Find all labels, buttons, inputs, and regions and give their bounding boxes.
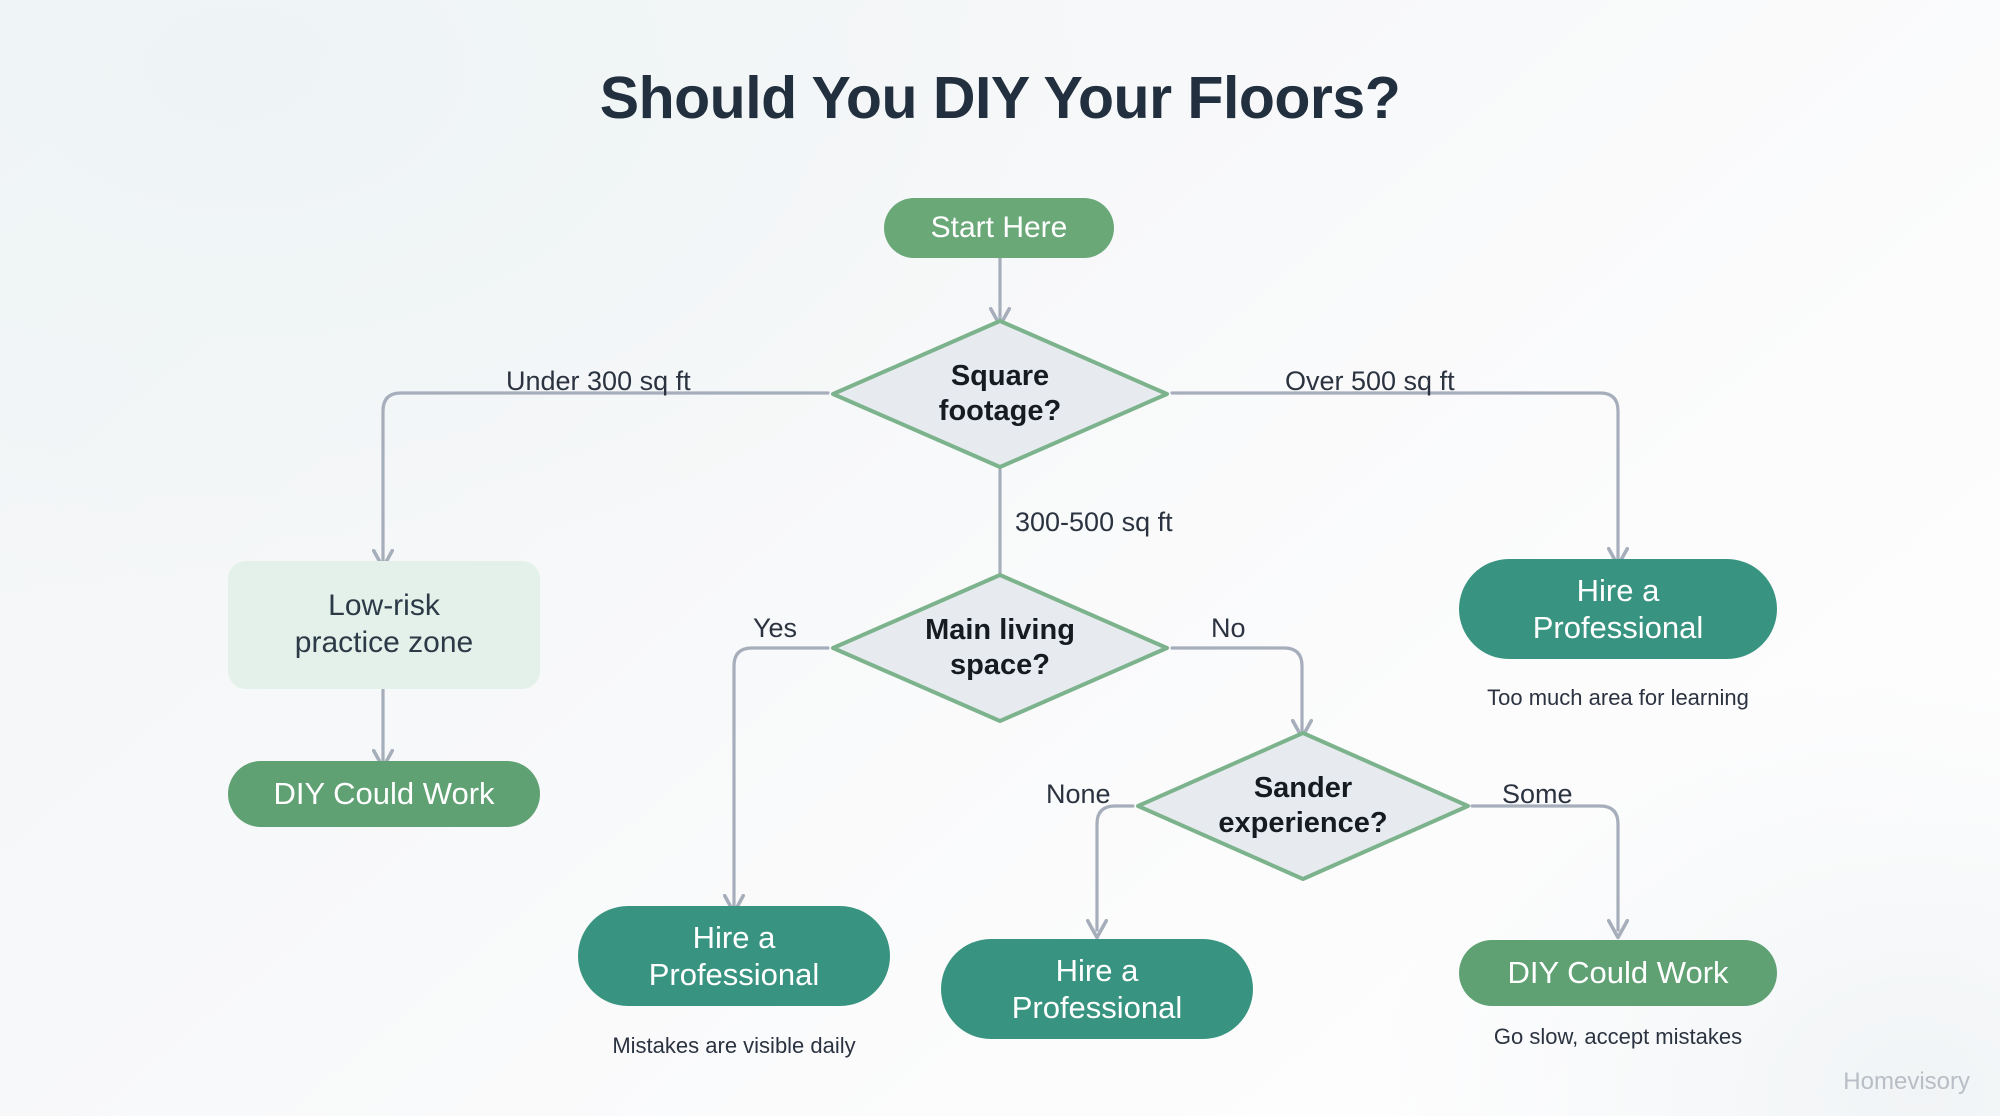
edge-label-yes: Yes (753, 613, 797, 644)
label-line-1: Low-risk (295, 588, 473, 625)
node-low-risk-practice-zone[interactable]: Low-risk practice zone (228, 561, 540, 689)
label-line-1: Square (939, 359, 1061, 394)
edge-sander-some-to-diy (1472, 806, 1618, 930)
label-line-1: Hire a (1533, 572, 1704, 609)
node-hire-professional-right[interactable]: Hire a Professional (1459, 559, 1777, 659)
flowchart-canvas: Should You DIY Your Floors? (0, 0, 2000, 1116)
edge-label-300-500: 300-500 sq ft (1015, 507, 1173, 538)
label-line-2: footage? (939, 394, 1061, 429)
node-square-footage[interactable]: Square footage? (828, 316, 1172, 472)
edge-sander-none-to-hire (1097, 806, 1133, 930)
node-sander-experience-label: Sander experience? (1133, 728, 1473, 884)
caption-hire-professional-right: Too much area for learning (1459, 685, 1777, 711)
node-start-here-label: Start Here (931, 210, 1068, 246)
node-main-living-space[interactable]: Main living space? (828, 570, 1172, 726)
edge-living-no-to-sander (1172, 648, 1302, 730)
label-line-2: space? (925, 648, 1075, 683)
edge-sqft-to-lowrisk (383, 393, 828, 560)
watermark: Homevisory (1843, 1068, 1970, 1096)
node-diy-could-work-some-label: DIY Could Work (1507, 954, 1728, 991)
edge-label-no: No (1211, 613, 1246, 644)
label-line-2: Professional (1012, 989, 1183, 1026)
node-start-here[interactable]: Start Here (884, 198, 1114, 258)
edge-sqft-to-hire-right (1172, 393, 1618, 558)
edge-label-over-500: Over 500 sq ft (1285, 366, 1455, 397)
label-line-1: Sander (1218, 771, 1387, 806)
node-main-living-space-label: Main living space? (828, 570, 1172, 726)
edge-label-none: None (1046, 779, 1111, 810)
label-line-1: Hire a (1012, 952, 1183, 989)
label-line-2: Professional (649, 956, 820, 993)
edge-living-yes-to-hire (734, 648, 828, 905)
edge-label-under-300: Under 300 sq ft (506, 366, 691, 397)
label-line-2: Professional (1533, 609, 1704, 646)
label-line-2: practice zone (295, 625, 473, 662)
node-diy-could-work-some[interactable]: DIY Could Work (1459, 940, 1777, 1006)
edge-label-some: Some (1502, 779, 1573, 810)
node-square-footage-label: Square footage? (828, 316, 1172, 472)
node-hire-professional-none[interactable]: Hire a Professional (941, 939, 1253, 1039)
label-line-2: experience? (1218, 806, 1387, 841)
caption-diy-could-work-some: Go slow, accept mistakes (1459, 1024, 1777, 1050)
label-line-1: Main living (925, 613, 1075, 648)
node-sander-experience[interactable]: Sander experience? (1133, 728, 1473, 884)
caption-hire-professional-yes: Mistakes are visible daily (578, 1033, 890, 1059)
node-hire-professional-yes[interactable]: Hire a Professional (578, 906, 890, 1006)
node-diy-could-work-left-label: DIY Could Work (273, 775, 494, 812)
label-line-1: Hire a (649, 919, 820, 956)
node-diy-could-work-left[interactable]: DIY Could Work (228, 761, 540, 827)
